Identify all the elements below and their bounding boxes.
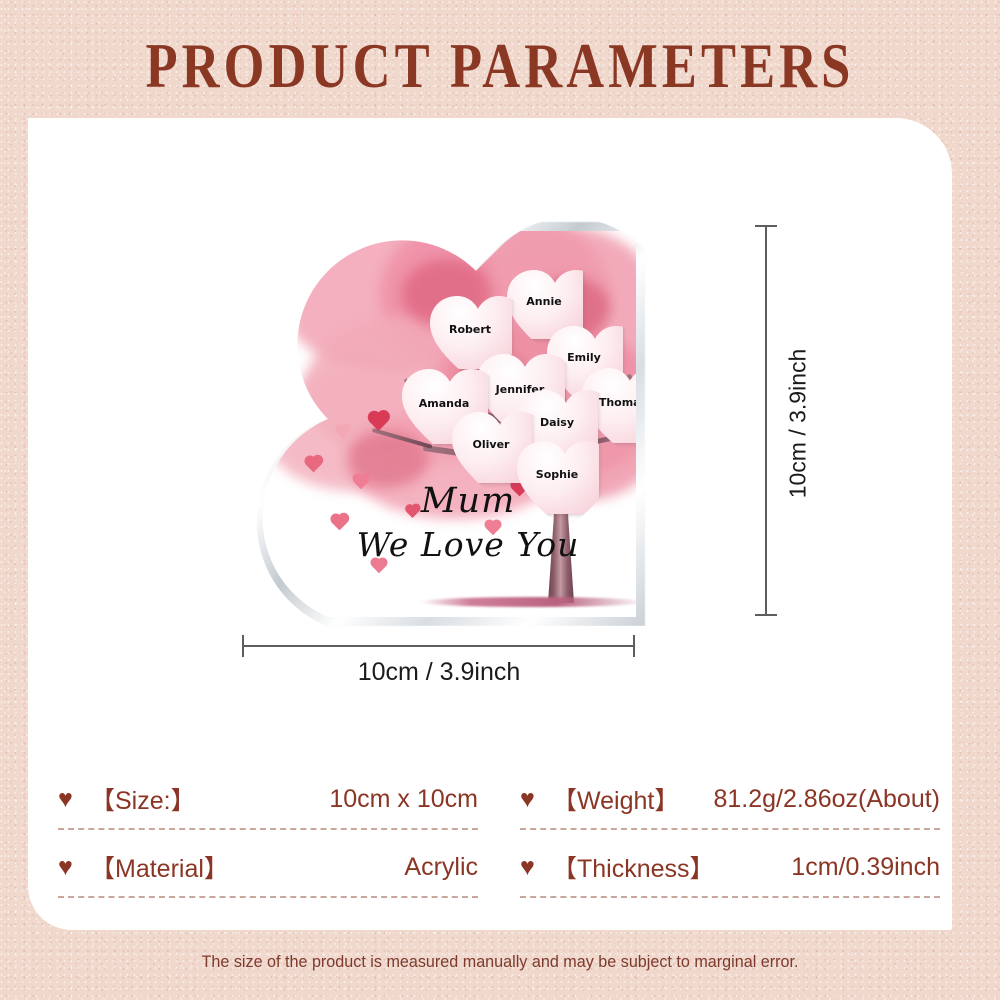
spec-row: ♥【Material】Acrylic bbox=[58, 836, 478, 898]
product-illustration: Mum We Love You AnnieRobertEmilyJennifer… bbox=[28, 118, 952, 688]
spec-label: 【Weight】 bbox=[552, 781, 679, 817]
spec-row: ♥【Thickness】1cm/0.39inch bbox=[520, 836, 940, 898]
spec-value: 1cm/0.39inch bbox=[791, 853, 940, 882]
spec-label: 【Size:】 bbox=[90, 781, 196, 817]
spec-separator bbox=[520, 896, 940, 898]
spec-value: Acrylic bbox=[404, 853, 478, 882]
name-heart-label: Sophie bbox=[536, 468, 578, 481]
spec-column-left: ♥【Size:】10cm x 10cm♥【Material】Acrylic bbox=[58, 768, 478, 898]
spec-label: 【Material】 bbox=[90, 849, 229, 885]
dimension-cap-right bbox=[633, 635, 635, 657]
dimension-line-horizontal bbox=[243, 645, 635, 647]
spec-label-group: ♥【Weight】 bbox=[520, 781, 679, 817]
dimension-label-vertical: 10cm / 3.9inch bbox=[785, 334, 812, 514]
name-heart: Sophie bbox=[515, 438, 599, 514]
dimension-line-vertical bbox=[765, 226, 767, 616]
spec-label-group: ♥【Thickness】 bbox=[520, 849, 715, 885]
heart-icon: ♥ bbox=[58, 857, 81, 878]
message-line-2: We Love You bbox=[348, 525, 588, 564]
spec-value: 10cm x 10cm bbox=[329, 785, 478, 814]
spec-separator bbox=[58, 896, 478, 898]
spec-separator bbox=[58, 828, 478, 830]
spec-value: 81.2g/2.86oz(About) bbox=[713, 785, 940, 814]
disclaimer-text: The size of the product is measured manu… bbox=[25, 952, 975, 972]
heart-icon: ♥ bbox=[520, 857, 543, 878]
name-heart-label: Oliver bbox=[473, 438, 510, 451]
page-title: PRODUCT PARAMETERS bbox=[90, 34, 910, 98]
confetti-heart bbox=[294, 407, 310, 423]
name-heart-label: Amanda bbox=[419, 397, 470, 410]
name-heart-label: Emily bbox=[567, 351, 601, 364]
spec-label-group: ♥【Material】 bbox=[58, 849, 229, 885]
spec-separator bbox=[520, 828, 940, 830]
spec-row: ♥【Size:】10cm x 10cm bbox=[58, 768, 478, 830]
tree-ground bbox=[420, 597, 636, 607]
acrylic-plaque: Mum We Love You AnnieRobertEmilyJennifer… bbox=[243, 222, 645, 626]
spec-column-right: ♥【Weight】81.2g/2.86oz(About)♥【Thickness】… bbox=[520, 768, 940, 898]
name-heart-label: Annie bbox=[526, 295, 561, 308]
spec-label: 【Thickness】 bbox=[552, 849, 715, 885]
name-heart-label: Thomas bbox=[599, 396, 636, 409]
heart-icon: ♥ bbox=[58, 789, 81, 810]
name-heart-label: Daisy bbox=[540, 416, 574, 429]
content-card: Mum We Love You AnnieRobertEmilyJennifer… bbox=[28, 118, 952, 930]
dimension-cap-bottom bbox=[755, 614, 777, 616]
dimension-cap-left bbox=[242, 635, 244, 657]
dimension-label-horizontal: 10cm / 3.9inch bbox=[243, 658, 635, 687]
confetti-heart bbox=[332, 515, 348, 531]
spec-label-group: ♥【Size:】 bbox=[58, 781, 196, 817]
plaque-face: Mum We Love You AnnieRobertEmilyJennifer… bbox=[252, 231, 636, 617]
dimension-cap-top bbox=[755, 225, 777, 227]
name-heart-label: Robert bbox=[449, 323, 491, 336]
heart-icon: ♥ bbox=[520, 789, 543, 810]
spec-row: ♥【Weight】81.2g/2.86oz(About) bbox=[520, 768, 940, 830]
